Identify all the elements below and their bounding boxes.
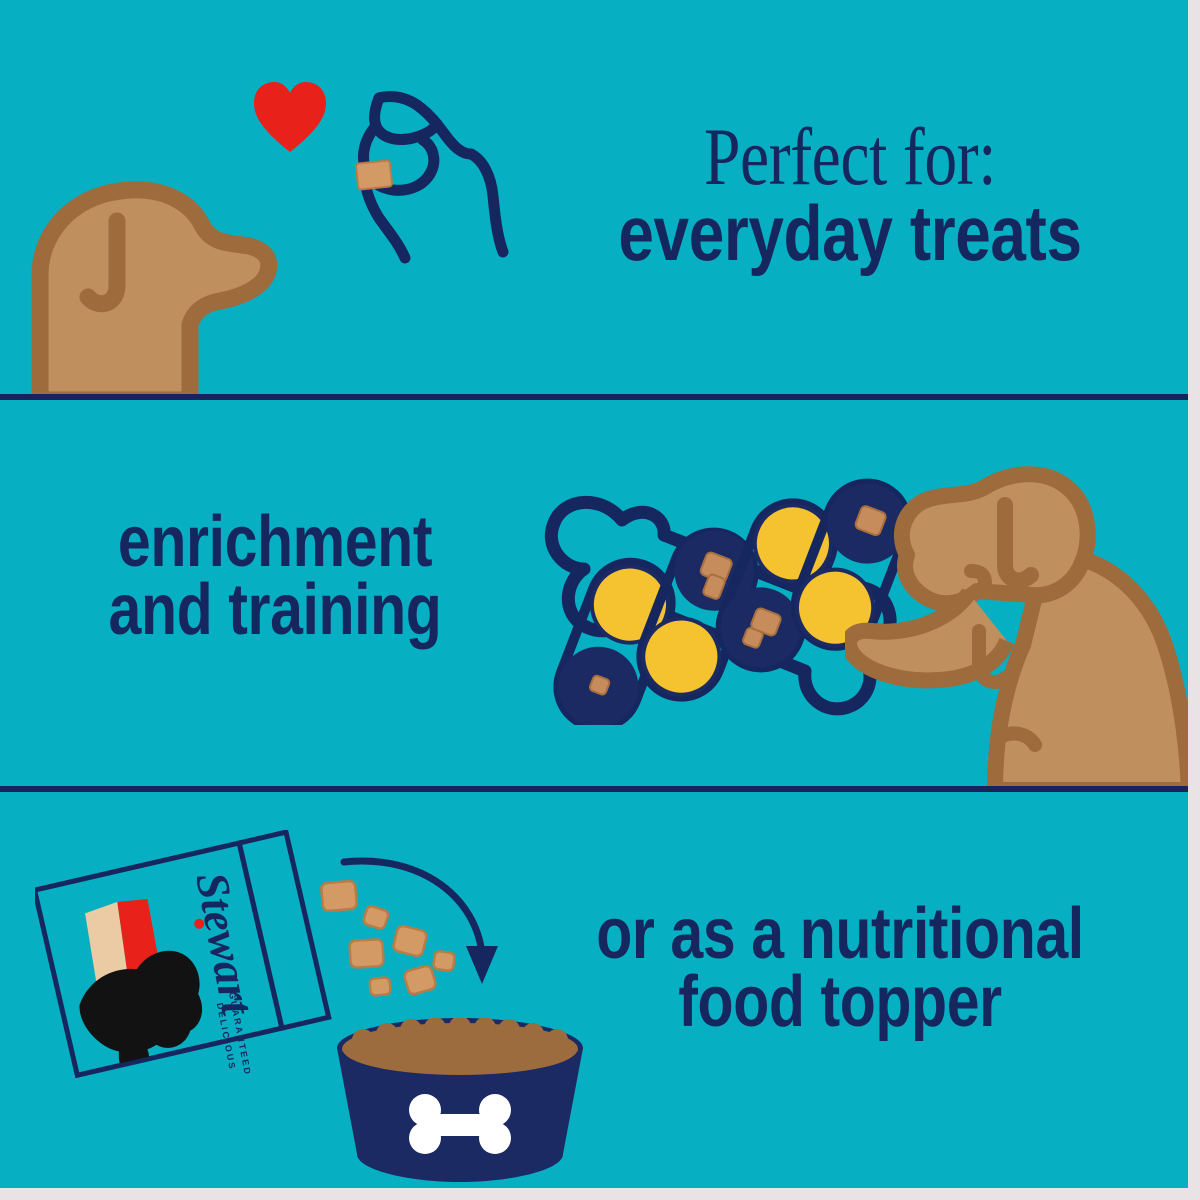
panel-everyday-treats: Perfect for: everyday treats — [0, 0, 1188, 398]
page-edge-right — [1188, 0, 1200, 1200]
headline-bottom-line2: food topper — [569, 968, 1110, 1036]
headline-middle-line2: and training — [82, 576, 467, 644]
promo-poster: Perfect for: everyday treats enrichment … — [0, 0, 1188, 1188]
dog-head-icon — [0, 125, 280, 398]
dog-with-paw-icon — [845, 435, 1188, 788]
headline-bottom: or as a nutritional food topper — [510, 900, 1170, 1037]
heart-icon — [250, 78, 330, 158]
hand-holding-treat-icon — [335, 80, 535, 285]
page-edge-bottom — [0, 1188, 1200, 1200]
panel-enrichment-training: enrichment and training — [0, 400, 1188, 788]
headline-top: Perfect for: everyday treats — [520, 118, 1180, 270]
dog-bowl-icon — [315, 1018, 605, 1188]
headline-top-line2: everyday treats — [579, 196, 1120, 270]
treat-bag-icon: Stewart GUARANTEED DELICIOUS — [35, 830, 335, 1080]
panel-food-topper: Stewart GUARANTEED DELICIOUS — [0, 790, 1188, 1188]
headline-middle-line1: enrichment — [82, 508, 467, 576]
headline-bottom-line1: or as a nutritional — [569, 900, 1110, 968]
headline-top-line1: Perfect for: — [586, 118, 1114, 196]
curved-arrow-icon — [330, 848, 520, 1008]
headline-middle: enrichment and training — [40, 508, 510, 645]
